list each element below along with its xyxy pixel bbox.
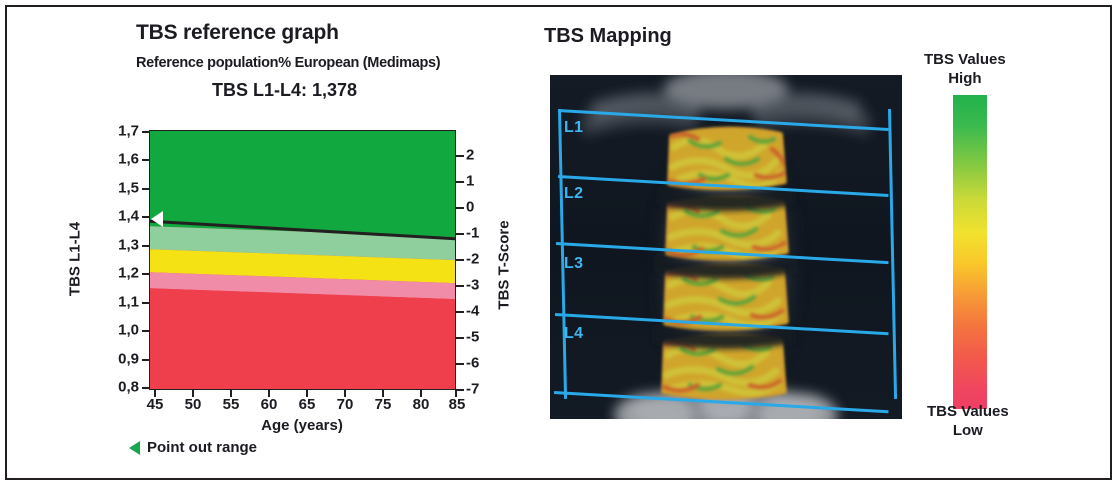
- legend-label: Point out range: [147, 439, 257, 456]
- tbs-colorbar: [953, 95, 987, 409]
- x-tick-label: 50: [185, 396, 202, 413]
- t-score-tick-label: -7: [466, 381, 494, 398]
- y-tick-mark: [142, 131, 150, 133]
- t-score-tick-label: -6: [466, 355, 494, 372]
- x-tick-mark: [154, 389, 156, 397]
- band-green: [149, 130, 456, 237]
- x-tick-label: 60: [261, 396, 278, 413]
- x-tick-mark: [192, 389, 194, 397]
- y-tick-mark: [142, 216, 150, 218]
- t-score-tick-mark: [456, 363, 464, 365]
- x-axis-title: Age (years): [261, 417, 343, 434]
- y-tick-mark: [142, 302, 150, 304]
- t-score-tick-label: -5: [466, 329, 494, 346]
- x-tick-label: 85: [449, 396, 466, 413]
- y-tick-label: 1,1: [91, 294, 139, 311]
- t-score-tick-label: 2: [466, 147, 494, 164]
- colorbar-high-line1: TBS Values: [924, 50, 1006, 69]
- x-tick-mark: [382, 389, 384, 397]
- vertebra-label-l2: L2: [564, 185, 583, 203]
- t-score-tick-label: -4: [466, 303, 494, 320]
- y-tick-mark: [142, 330, 150, 332]
- t-score-tick-mark: [456, 181, 464, 183]
- x-tick-label: 65: [299, 396, 316, 413]
- tbs-report-figure: TBS reference graph Reference population…: [5, 5, 1112, 480]
- y-tick-mark: [142, 273, 150, 275]
- t-score-tick-label: -1: [466, 225, 494, 242]
- t-score-tick-mark: [456, 337, 464, 339]
- page-title: TBS reference graph: [136, 21, 339, 45]
- x-tick-mark: [306, 389, 308, 397]
- tbs-value-label: TBS L1-L4: 1,378: [212, 80, 357, 101]
- vertebra-label-l3: L3: [564, 255, 583, 273]
- t-score-tick-label: -2: [466, 251, 494, 268]
- t-score-tick-mark: [456, 207, 464, 209]
- t-score-tick-label: 0: [466, 199, 494, 216]
- y-tick-label: 1,4: [91, 208, 139, 225]
- tbs-mapping-image: L1 L2 L3 L4: [550, 75, 902, 419]
- t-score-tick-mark: [456, 259, 464, 261]
- x-tick-label: 45: [147, 396, 164, 413]
- t-score-tick-mark: [456, 285, 464, 287]
- y-tick-label: 1,0: [91, 322, 139, 339]
- mapping-title: TBS Mapping: [544, 25, 672, 48]
- y-tick-mark: [142, 188, 150, 190]
- patient-point-marker: [151, 211, 163, 227]
- x-tick-mark: [344, 389, 346, 397]
- vertebra-label-l4: L4: [564, 325, 583, 343]
- y-tick-mark: [142, 387, 150, 389]
- colorbar-high-label: TBS Values High: [924, 50, 1006, 88]
- y-tick-mark: [142, 245, 150, 247]
- reference-population-subtitle: Reference population% European (Medimaps…: [136, 55, 440, 71]
- t-score-tick-mark: [456, 233, 464, 235]
- x-tick-label: 70: [337, 396, 354, 413]
- left-triangle-icon: [129, 441, 140, 455]
- y-tick-mark: [142, 359, 150, 361]
- vertebra-label-l1: L1: [564, 119, 583, 137]
- y-tick-label: 0,8: [91, 379, 139, 396]
- colorbar-low-label: TBS Values Low: [927, 402, 1009, 440]
- x-tick-label: 55: [223, 396, 240, 413]
- t-score-tick-mark: [456, 155, 464, 157]
- y-tick-label: 1,7: [91, 123, 139, 140]
- colorbar-low-line1: TBS Values: [927, 402, 1009, 421]
- tbs-reference-chart: TBS reference graph Reference population…: [7, 7, 527, 482]
- y-tick-label: 1,6: [91, 151, 139, 168]
- colorbar-low-line2: Low: [927, 421, 1009, 440]
- x-tick-mark: [268, 389, 270, 397]
- y-tick-label: 1,3: [91, 237, 139, 254]
- x-tick-mark: [230, 389, 232, 397]
- y-tick-mark: [142, 159, 150, 161]
- t-score-tick-mark: [456, 389, 464, 391]
- y-tick-label: 1,2: [91, 265, 139, 282]
- y-axis-right-title: TBS T-Score: [496, 220, 513, 309]
- band-red: [149, 288, 456, 390]
- y-axis-title: TBS L1-L4: [67, 222, 84, 296]
- x-tick-label: 75: [375, 396, 392, 413]
- colorbar-high-line2: High: [924, 69, 1006, 88]
- x-tick-mark: [420, 389, 422, 397]
- chart-plot-area: [149, 130, 456, 390]
- x-tick-mark: [455, 389, 457, 397]
- y-tick-label: 1,5: [91, 180, 139, 197]
- x-tick-label: 80: [413, 396, 430, 413]
- y-tick-label: 0,9: [91, 351, 139, 368]
- chart-legend: Point out range: [129, 439, 257, 456]
- t-score-tick-label: -3: [466, 277, 494, 294]
- t-score-tick-mark: [456, 311, 464, 313]
- t-score-tick-label: 1: [466, 173, 494, 190]
